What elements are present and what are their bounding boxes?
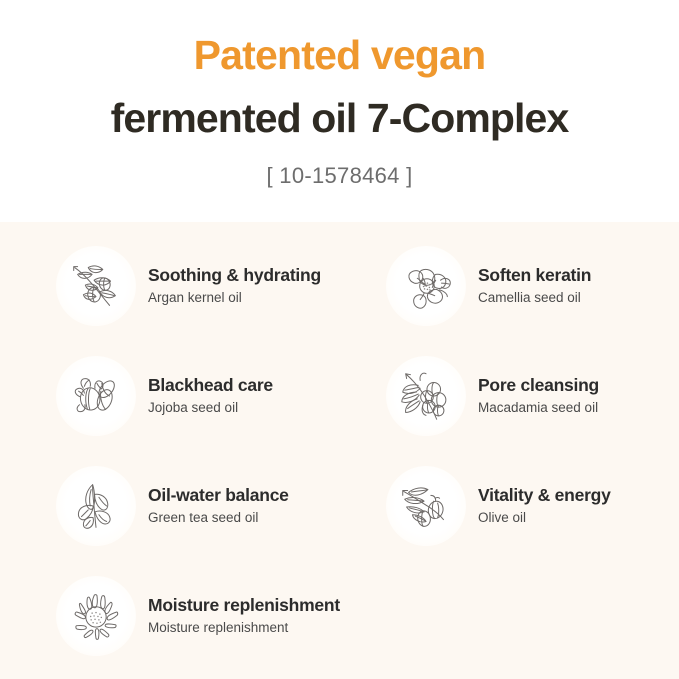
features-panel: Soothing & hydrating Argan kernel oil (0, 222, 679, 679)
page-title-accent-line: Patented vegan (0, 33, 679, 78)
feature-title: Blackhead care (148, 375, 273, 397)
feature-text-block: Oil-water balance Green tea seed oil (148, 485, 289, 527)
feature-text-block: Vitality & energy Olive oil (478, 485, 611, 527)
feature-subtitle: Macadamia seed oil (478, 400, 599, 417)
macadamia-cluster-icon (386, 356, 466, 436)
header-section: Patented vegan fermented oil 7-Complex [… (0, 0, 679, 222)
argan-branch-icon (56, 246, 136, 326)
feature-subtitle: Argan kernel oil (148, 290, 321, 307)
feature-item-camellia: Soften keratin Camellia seed oil (386, 242, 676, 330)
page-title-main-line: fermented oil 7-Complex (0, 96, 679, 141)
feature-text-block: Soothing & hydrating Argan kernel oil (148, 265, 321, 307)
feature-subtitle: Green tea seed oil (148, 510, 289, 527)
patent-number: [ 10-1578464 ] (0, 163, 679, 189)
green-tea-leaves-icon (56, 466, 136, 546)
feature-subtitle: Camellia seed oil (478, 290, 591, 307)
feature-item-sunflower: Moisture replenishment Moisture replenis… (56, 572, 386, 660)
feature-item-jojoba: Blackhead care Jojoba seed oil (56, 352, 386, 440)
feature-item-macadamia: Pore cleansing Macadamia seed oil (386, 352, 676, 440)
feature-subtitle: Jojoba seed oil (148, 400, 273, 417)
feature-item-green-tea: Oil-water balance Green tea seed oil (56, 462, 386, 550)
feature-text-block: Moisture replenishment Moisture replenis… (148, 595, 340, 637)
olive-branch-icon (386, 466, 466, 546)
feature-title: Pore cleansing (478, 375, 599, 397)
feature-text-block: Blackhead care Jojoba seed oil (148, 375, 273, 417)
feature-subtitle: Olive oil (478, 510, 611, 527)
feature-title: Soften keratin (478, 265, 591, 287)
jojoba-seeds-icon (56, 356, 136, 436)
feature-title: Oil-water balance (148, 485, 289, 507)
feature-item-olive: Vitality & energy Olive oil (386, 462, 676, 550)
feature-subtitle: Moisture replenishment (148, 620, 340, 637)
feature-title: Vitality & energy (478, 485, 611, 507)
product-feature-infographic: Patented vegan fermented oil 7-Complex [… (0, 0, 679, 679)
feature-text-block: Soften keratin Camellia seed oil (478, 265, 591, 307)
feature-item-argan: Soothing & hydrating Argan kernel oil (56, 242, 386, 330)
camellia-flower-icon (386, 246, 466, 326)
feature-text-block: Pore cleansing Macadamia seed oil (478, 375, 599, 417)
feature-title: Moisture replenishment (148, 595, 340, 617)
sunflower-icon (56, 576, 136, 656)
feature-title: Soothing & hydrating (148, 265, 321, 287)
